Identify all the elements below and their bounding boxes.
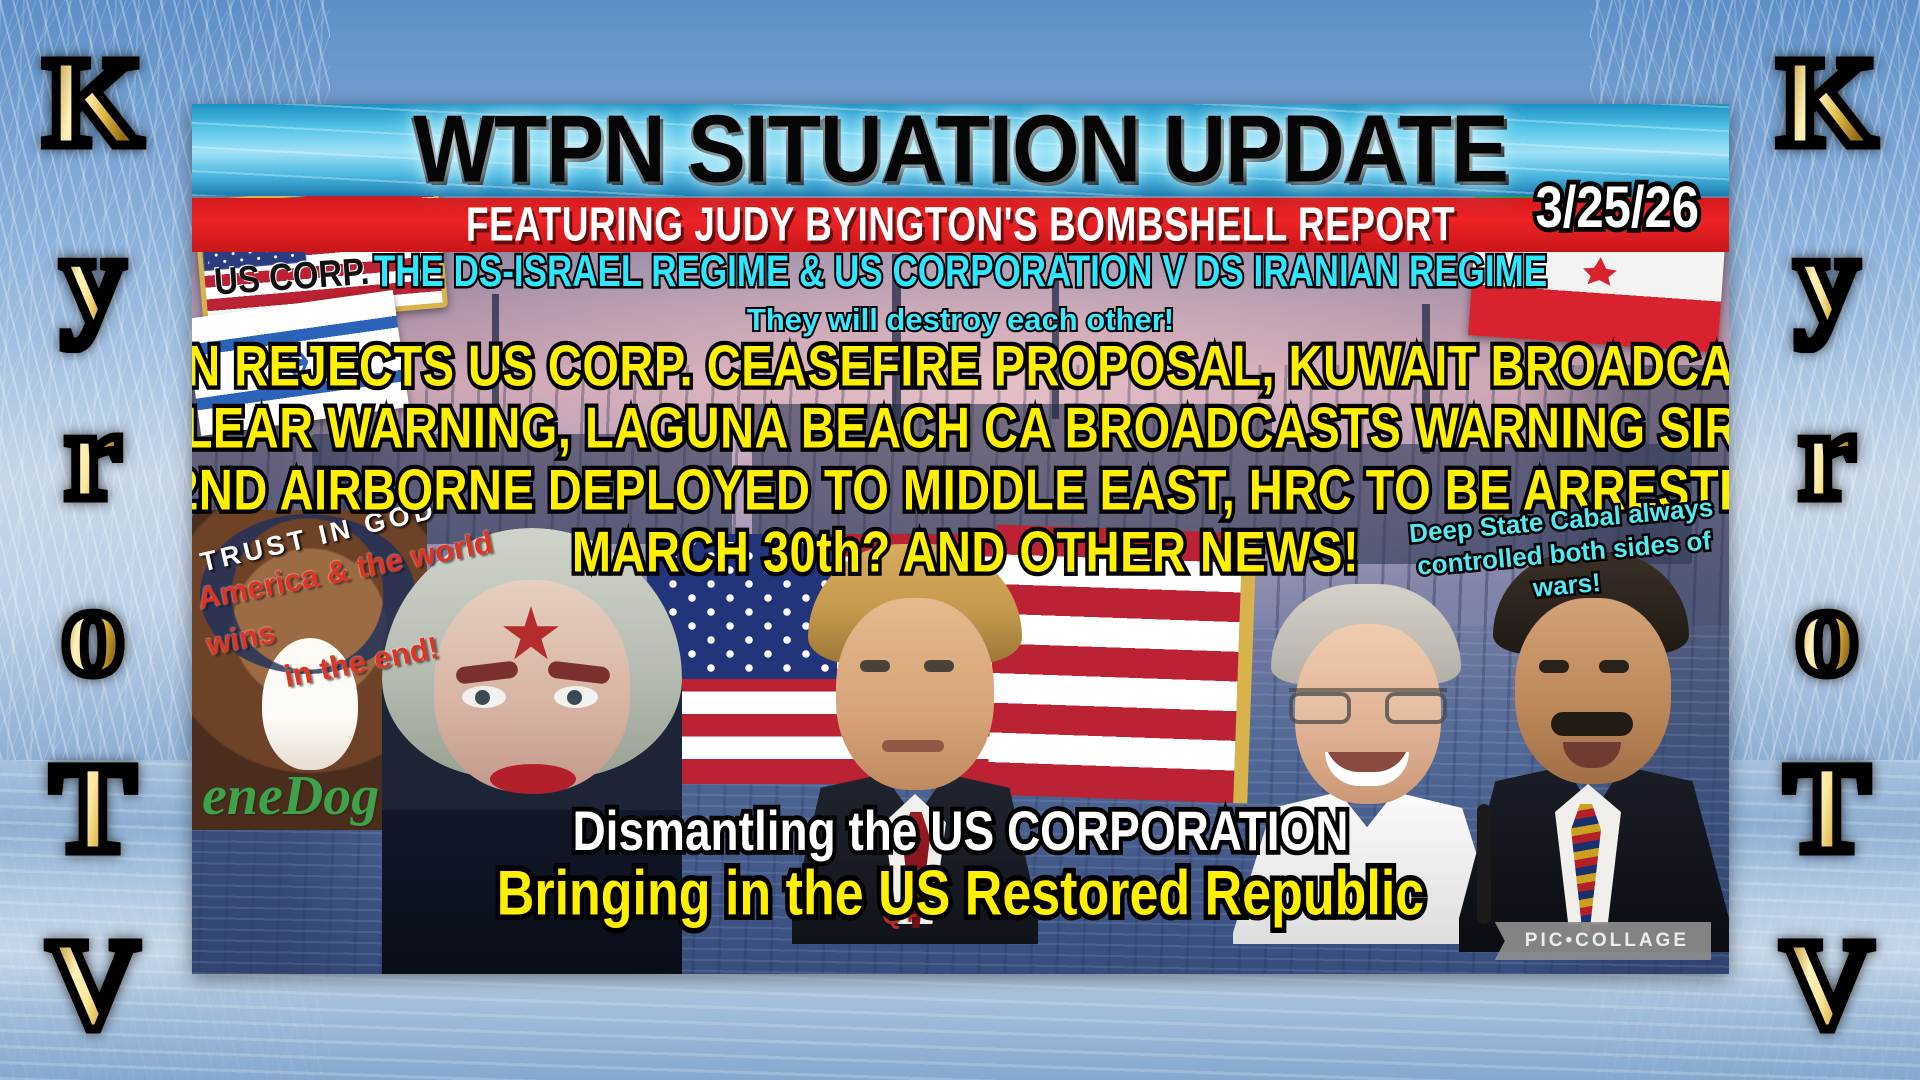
tagline-restored-republic: Bringing in the US Restored Republic [192, 857, 1729, 930]
eye [1539, 660, 1569, 673]
pic-collage-watermark: PIC•COLLAGE [1495, 922, 1711, 960]
mouth [882, 740, 944, 752]
eye [554, 686, 598, 708]
eye [1599, 660, 1629, 673]
tagline-dismantling: Dismantling the US CORPORATION [192, 799, 1729, 864]
headline-line: MARCH 30th? AND OTHER NEWS! [572, 523, 1359, 581]
eye [860, 660, 890, 672]
poster-collage: US CORP. TRUST IN GOD eneDog Q+ [192, 104, 1729, 974]
face [836, 598, 994, 790]
eye [462, 686, 506, 708]
subtitle-cyan: THE DS-ISRAEL REGIME & US CORPORATION V … [192, 244, 1729, 300]
glasses-icon [1289, 688, 1447, 722]
mouth [490, 764, 576, 794]
moustache [1551, 712, 1633, 736]
headline-line: IRAN REJECTS US CORP. CEASEFIRE PROPOSAL… [192, 337, 1729, 395]
eye [924, 660, 954, 672]
date-label: 3/25/26 [1536, 174, 1700, 241]
headline-line: NUCLEAR WARNING, LAGUNA BEACH CA BROADCA… [192, 399, 1729, 457]
